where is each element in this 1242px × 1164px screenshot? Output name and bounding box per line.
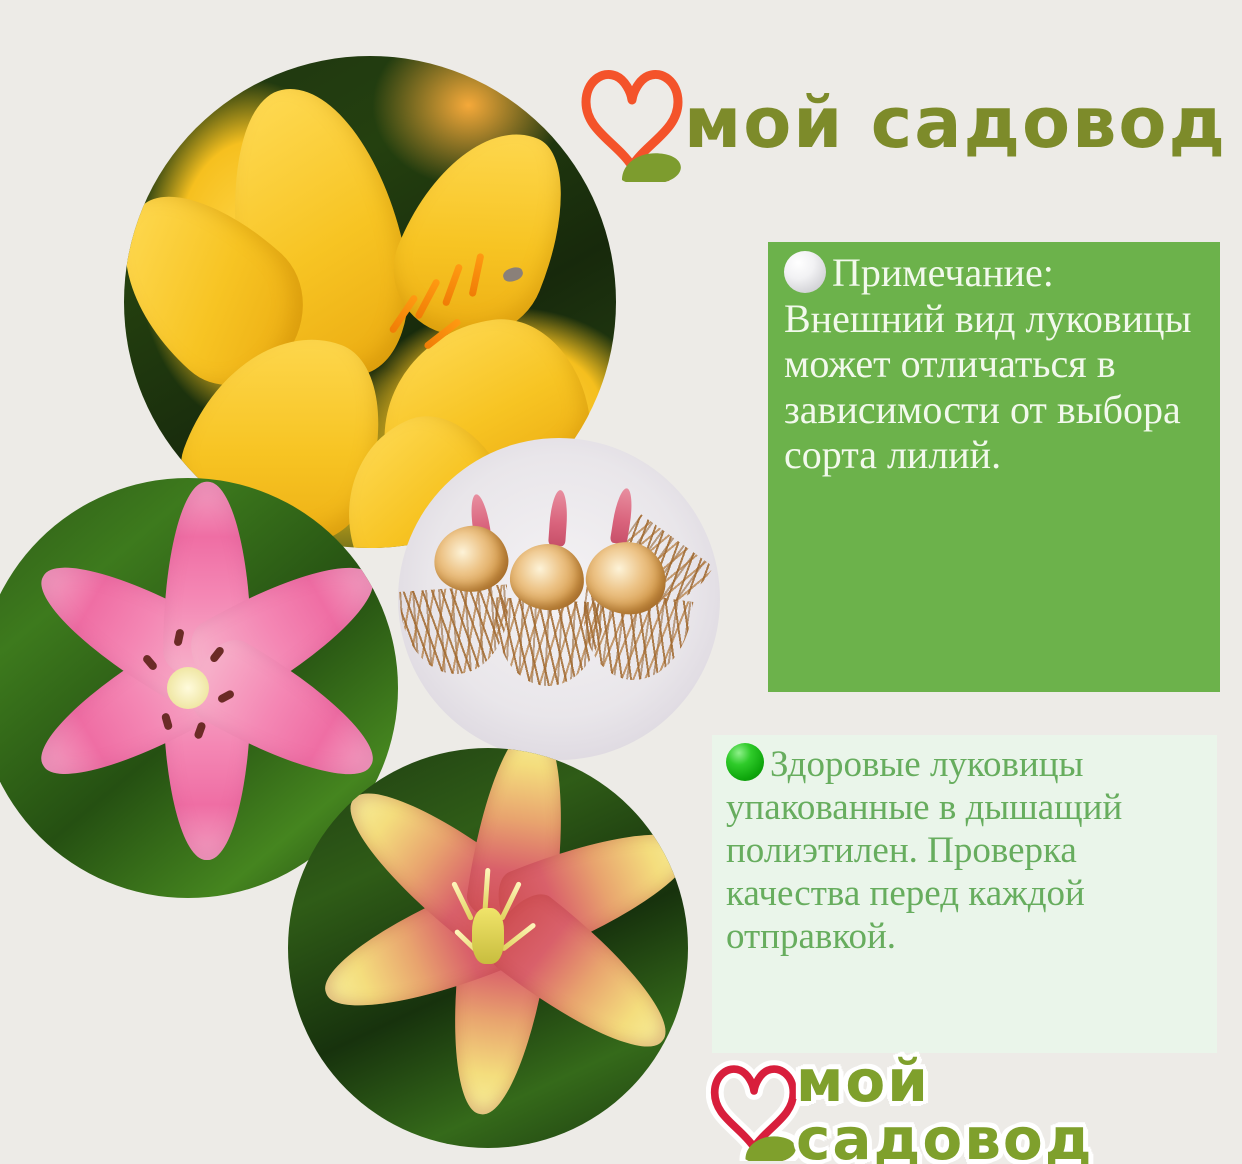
note-box-secondary: Здоровые луковицы упакованные в дышащий … [712,735,1217,1053]
white-circle-bullet-icon [784,251,826,293]
green-circle-bullet-icon [726,743,764,781]
brand-logo-bottom[interactable]: мой садовод [706,1052,1242,1164]
note-primary-heading: Примечание: [832,250,1054,295]
lily-flower-center [167,667,209,709]
lily-pistil [472,908,504,964]
promo-image-canvas: мой садовод Примечание: Внешний вид луко… [0,0,1242,1164]
bulb-sprout [548,489,569,546]
photo-lily-bulbs [398,438,720,760]
brand-wordmark-top: мой садовод [684,88,1227,158]
brand-wordmark-bottom: мой садовод [796,1052,1242,1164]
note-box-primary: Примечание: Внешний вид луковицы может о… [768,242,1220,692]
brand-logo-top[interactable]: мой садовод [576,58,1227,187]
heart-outline-icon [586,74,678,166]
logo-heart-leaf-mark [576,58,688,187]
note-primary-body: Внешний вид луковицы может отличаться в … [784,296,1191,478]
logo-heart-leaf-mark [706,1055,802,1164]
note-secondary-body: Здоровые луковицы упакованные в дышащий … [726,744,1122,957]
photo-bicolor-lily [288,748,688,1148]
